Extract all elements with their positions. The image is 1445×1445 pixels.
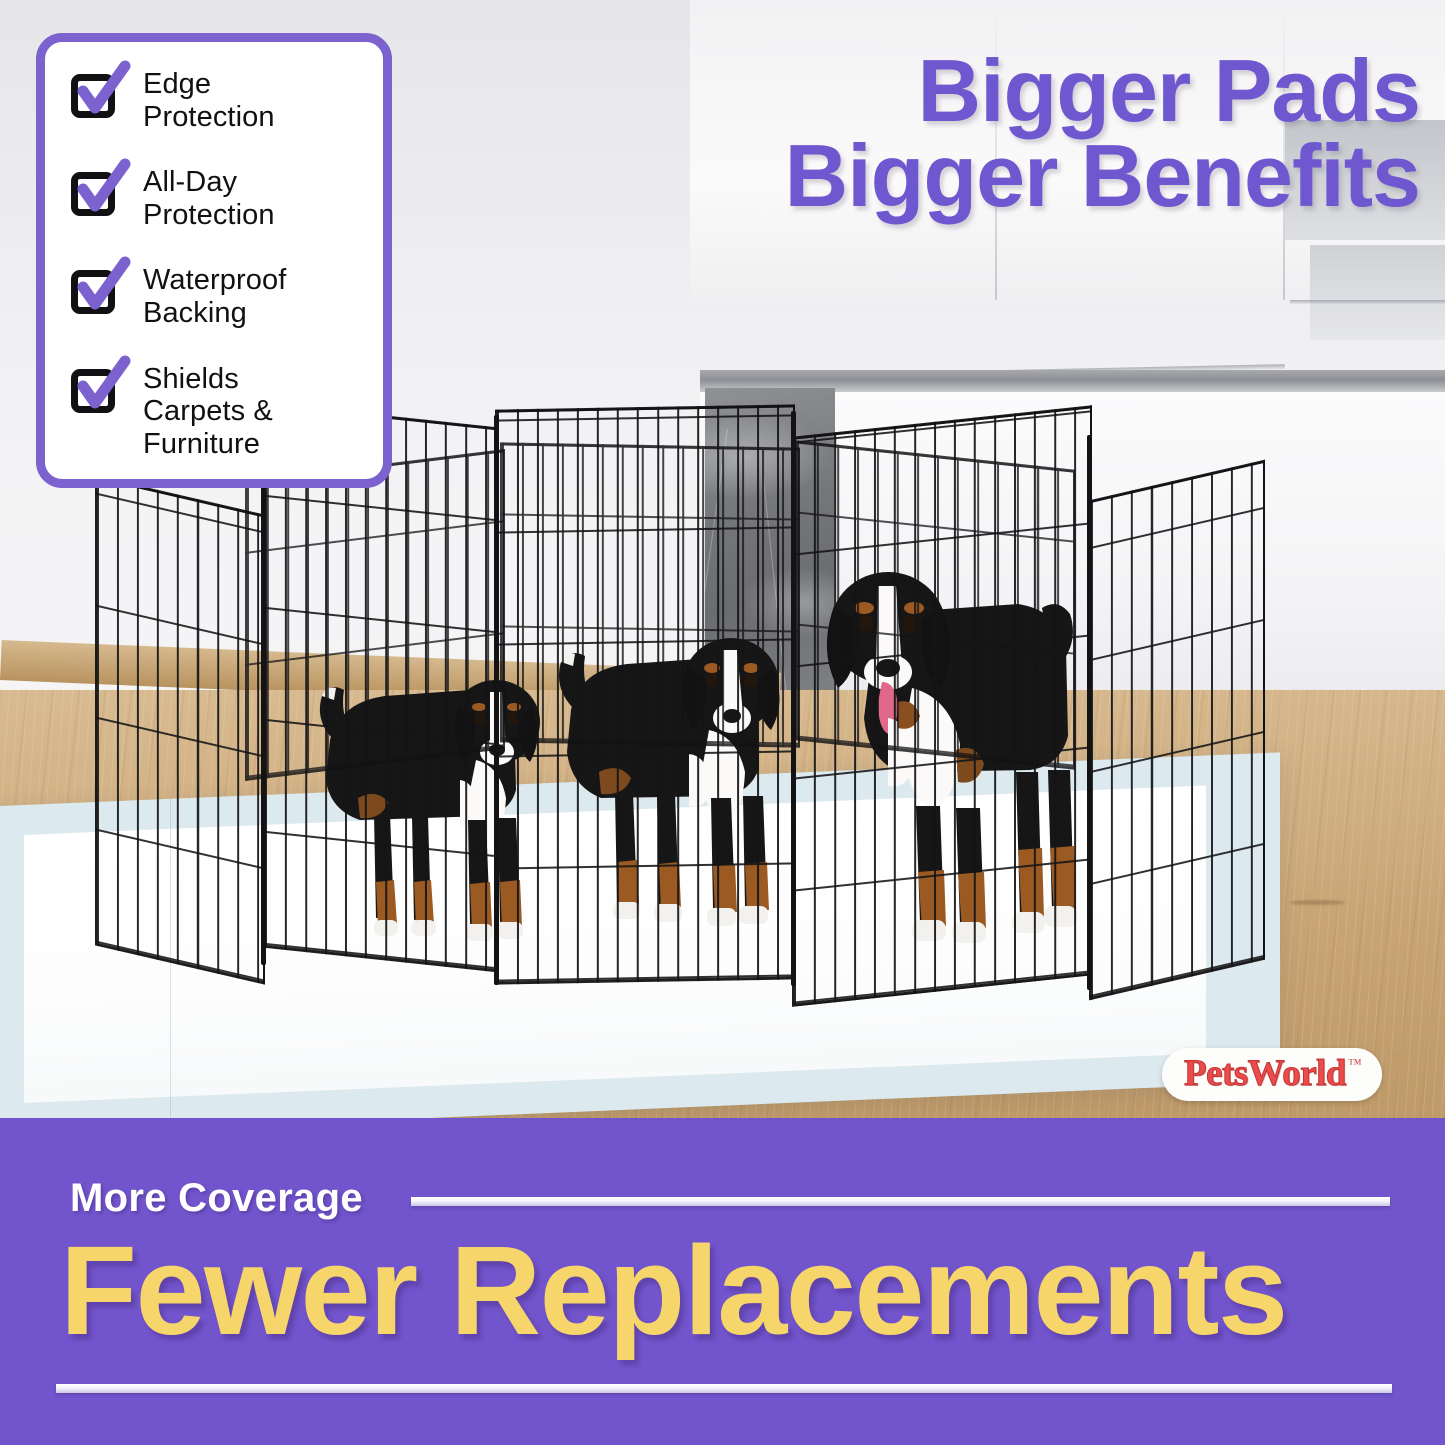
feature-item: All-Day Protection [69,164,365,232]
feature-label: Shields Carpets & Furniture [143,361,273,461]
checkbox-check-icon [69,365,121,417]
banner-eyebrow-row: More Coverage [70,1176,1390,1221]
checkbox-check-icon [69,168,121,220]
brand-name: PetsWorld [1184,1055,1346,1092]
playpen-hinge [261,455,266,965]
headline-line-1: Bigger Pads [918,41,1420,140]
feature-label: Waterproof Backing [143,262,286,330]
cabinet-glass-panel [1310,245,1445,340]
feature-label: All-Day Protection [143,164,275,232]
playpen-hinge [494,415,499,985]
feature-list-card: Edge Protection All-Day Protection Water… [36,33,392,488]
checkbox-check-icon [69,266,121,318]
feature-item: Waterproof Backing [69,262,365,330]
glass-shelf [1290,300,1445,304]
playpen-panel [1089,460,1265,1001]
headline: Bigger Pads Bigger Benefits [560,48,1420,219]
bottom-banner: More Coverage Fewer Replacements [0,1118,1445,1445]
feature-label: Edge Protection [143,66,275,134]
brand-logo: PetsWorld ™ [1162,1048,1382,1101]
feature-item: Shields Carpets & Furniture [69,361,365,461]
playpen-panel [792,405,1092,1007]
trademark-symbol: ™ [1348,1057,1362,1073]
banner-headline: Fewer Replacements [60,1228,1395,1354]
playpen-hinge [1087,435,1092,990]
playpen-panel [95,475,265,984]
playpen-hinge [791,411,796,986]
banner-eyebrow: More Coverage [70,1176,363,1221]
banner-rule-top [411,1197,1390,1206]
headline-line-2: Bigger Benefits [560,133,1420,218]
feature-item: Edge Protection [69,66,365,134]
checkbox-check-icon [69,70,121,122]
product-marketing-image: Bigger Pads Bigger Benefits Edge Protect… [0,0,1445,1445]
playpen-panel [263,403,498,973]
pet-playpen [95,425,1265,1045]
playpen-panel [495,404,795,984]
banner-rule-bottom [56,1384,1392,1393]
